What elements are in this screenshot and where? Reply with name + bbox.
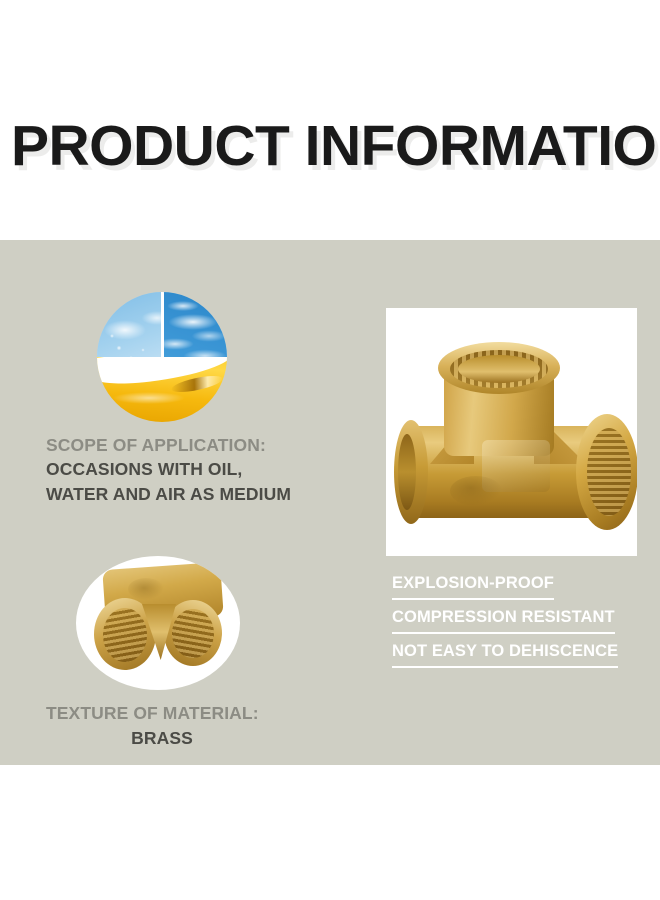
feature-row-1: EXPLOSION-PROOF — [392, 570, 654, 604]
feature-row-3: NOT EASY TO DEHISCENCE — [392, 638, 654, 672]
circle-tee-right-thread — [172, 609, 214, 658]
page-title: PRODUCT INFORMATION — [11, 118, 660, 175]
header-band: PRODUCT INFORMATION — [0, 0, 660, 240]
tee-cast-marking — [450, 476, 502, 506]
scope-of-application-block: SCOPE OF APPLICATION: OCCASIONS WITH OIL… — [46, 433, 376, 507]
brass-tee-fitting-photo — [386, 308, 637, 556]
brass-tee-fitting-circle-photo — [76, 556, 240, 690]
feature-line-2: COMPRESSION RESISTANT — [392, 604, 615, 634]
product-information-page: PRODUCT INFORMATION SCOPE OF APPLICATION… — [0, 0, 660, 900]
circle-tee-cast-marking — [128, 578, 164, 600]
tee-top-bore — [458, 355, 540, 383]
scope-line-1: OCCASIONS WITH OIL, — [46, 457, 376, 482]
scope-label: SCOPE OF APPLICATION: — [46, 433, 376, 457]
tee-right-thread — [587, 428, 631, 516]
texture-of-material-block: TEXTURE OF MATERIAL: BRASS — [46, 701, 336, 751]
tee-left-bore — [398, 434, 416, 510]
feature-row-2: COMPRESSION RESISTANT — [392, 604, 654, 638]
material-value: BRASS — [46, 726, 278, 751]
material-label: TEXTURE OF MATERIAL: — [46, 701, 336, 726]
feature-line-3: NOT EASY TO DEHISCENCE — [392, 638, 618, 668]
water-sky-oil-circle-icon — [97, 292, 227, 422]
feature-line-1: EXPLOSION-PROOF — [392, 570, 554, 600]
scope-line-2: WATER AND AIR AS MEDIUM — [46, 482, 376, 507]
wedge-divider-vertical — [161, 292, 164, 358]
circle-tee-left-thread — [103, 608, 147, 662]
feature-list-block: EXPLOSION-PROOF COMPRESSION RESISTANT NO… — [392, 570, 654, 672]
